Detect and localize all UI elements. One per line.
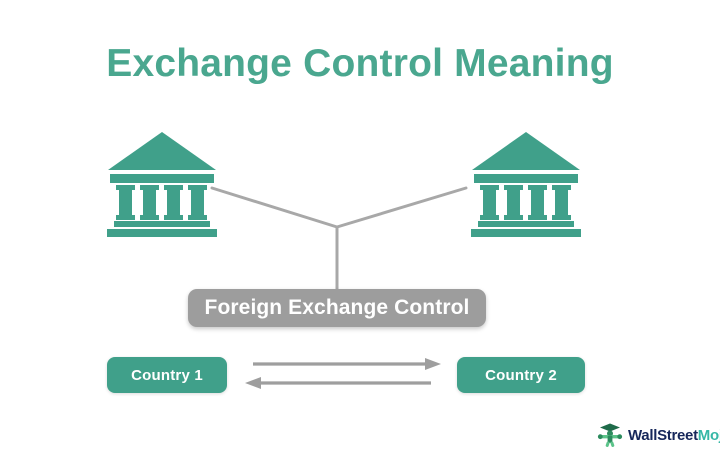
brand-word-primary: WallStreet bbox=[628, 427, 698, 444]
country-2-label: Country 2 bbox=[485, 367, 557, 384]
page-title: Exchange Control Meaning bbox=[0, 42, 720, 86]
brand-word-accent: Mojo bbox=[698, 427, 720, 444]
foreign-exchange-control-box[interactable]: Foreign Exchange Control bbox=[188, 289, 486, 327]
control-box-label: Foreign Exchange Control bbox=[205, 296, 470, 320]
brand-logo: WallStreetMojo bbox=[597, 420, 720, 450]
bank-right-icon bbox=[470, 130, 582, 238]
arrow-right-icon bbox=[253, 358, 441, 370]
brand-wordmark: WallStreetMojo bbox=[628, 427, 720, 444]
arrow-left-icon bbox=[245, 377, 431, 389]
diagram-canvas: Exchange Control Meaning bbox=[0, 0, 720, 463]
bank-left-icon bbox=[106, 130, 218, 238]
country-1-label: Country 1 bbox=[131, 367, 203, 384]
country-2-pill[interactable]: Country 2 bbox=[457, 357, 585, 393]
country-1-pill[interactable]: Country 1 bbox=[107, 357, 227, 393]
wallstreetmojo-figure-icon bbox=[597, 422, 623, 448]
